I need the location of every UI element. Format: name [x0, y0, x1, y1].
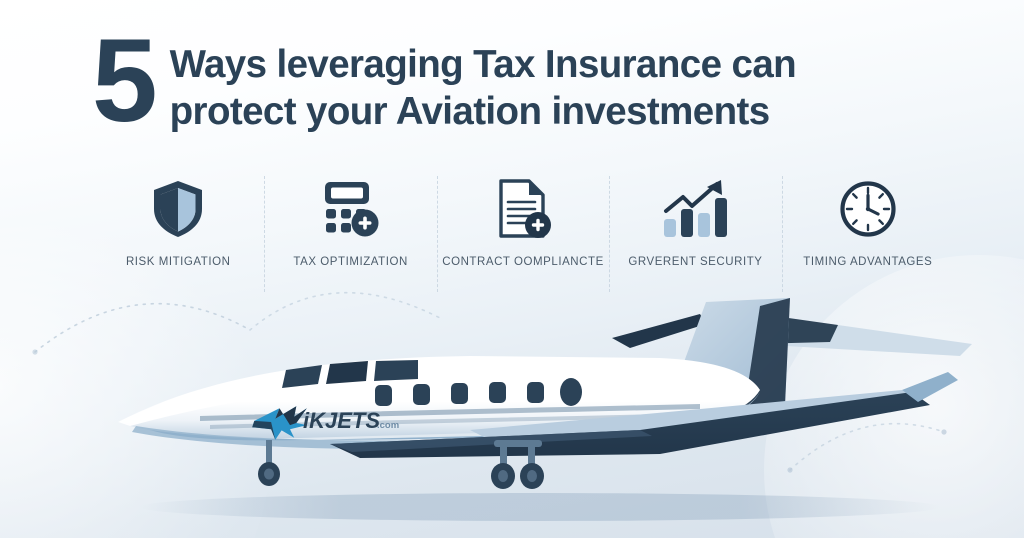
- headline-text: Ways leveraging Tax Insurance can protec…: [170, 26, 796, 136]
- headline: 5 Ways leveraging Tax Insurance can prot…: [92, 26, 952, 137]
- calculator-plus-icon: [319, 178, 383, 240]
- livery-brand-tagline: ­ ­ ­ ­ ­ ­: [307, 434, 326, 440]
- headline-line-1: Ways leveraging Tax Insurance can: [170, 42, 796, 89]
- headline-line-2: protect your Aviation investments: [170, 89, 796, 136]
- headline-number: 5: [92, 26, 154, 137]
- ground-shadow: [140, 493, 940, 521]
- growth-chart-icon: [659, 178, 731, 240]
- nose-landing-gear: [258, 440, 280, 486]
- clock-icon: [838, 178, 898, 240]
- business-jet-illustration: iKJETS .com ­ ­ ­ ­ ­ ­: [0, 262, 1024, 538]
- shield-icon: [150, 178, 206, 240]
- livery-brand-suffix: .com: [377, 420, 399, 431]
- document-plus-icon: [493, 178, 553, 240]
- livery-brand-text: iKJETS: [303, 408, 380, 433]
- infographic-canvas: 5 Ways leveraging Tax Insurance can prot…: [0, 0, 1024, 538]
- cabin-door-window: [560, 378, 582, 406]
